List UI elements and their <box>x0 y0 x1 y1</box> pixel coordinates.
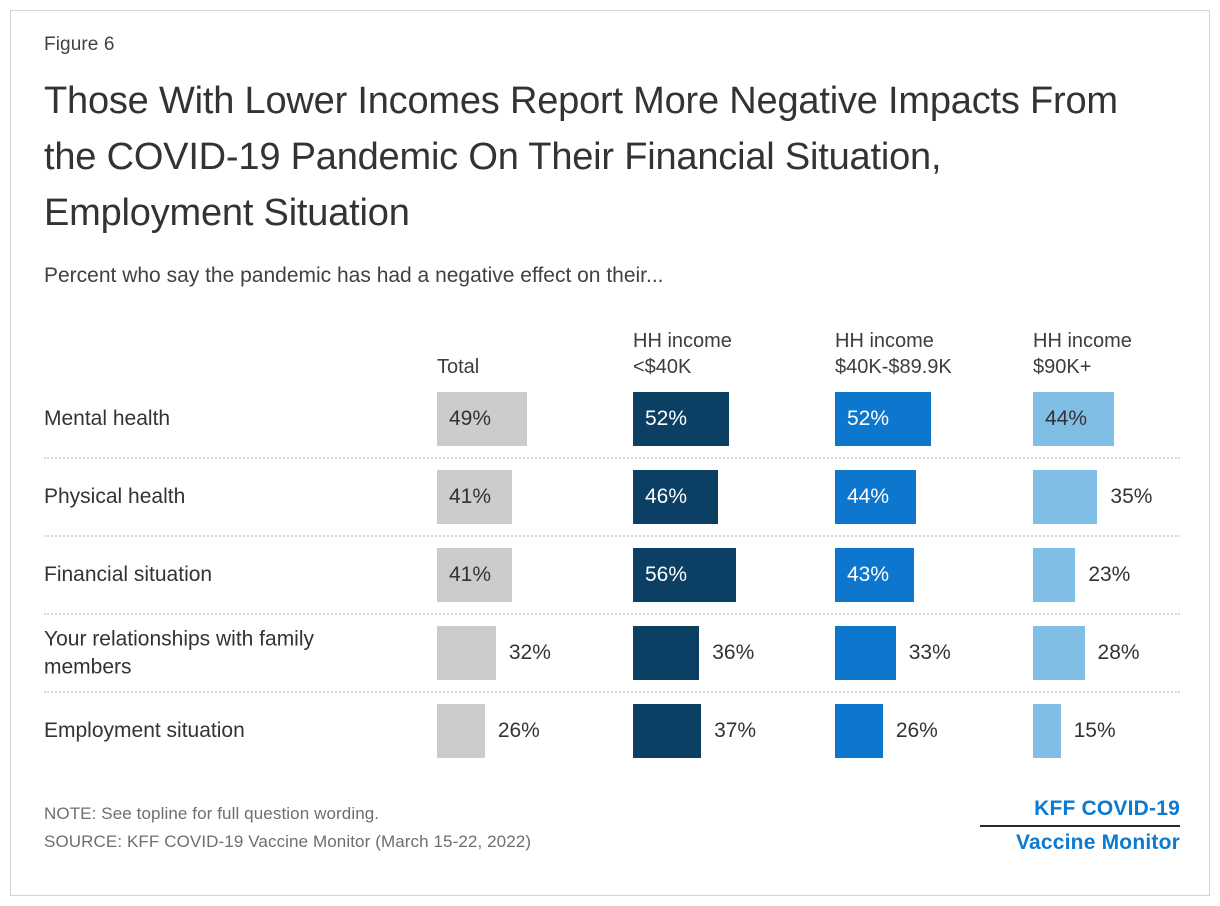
table-row: Mental health49%52%52%44% <box>44 381 1180 459</box>
bar-cell-total: 32% <box>437 626 551 680</box>
bar-cell-low: 37% <box>633 704 756 758</box>
row-label: Your relationships with family members <box>44 625 384 680</box>
bar-cell-mid: 52% <box>835 392 931 446</box>
figure-number: Figure 6 <box>44 34 1180 57</box>
page-title: Those With Lower Incomes Report More Neg… <box>44 73 1134 242</box>
bar-value-label: 44% <box>835 486 889 507</box>
bar-value-label: 49% <box>437 408 491 429</box>
bar: 56% <box>633 548 736 602</box>
kff-logo-line-1: KFF COVID-19 <box>980 796 1180 822</box>
chart-plot-area: TotalHH income <$40KHH income $40K-$89.9… <box>44 317 1180 769</box>
bar <box>437 704 485 758</box>
bar-value-label: 26% <box>485 720 540 741</box>
bar-value-label: 41% <box>437 564 491 585</box>
column-header-high: HH income $90K+ <box>1033 328 1132 381</box>
bar-cell-high: 23% <box>1033 548 1130 602</box>
bar: 43% <box>835 548 914 602</box>
kff-logo-rule <box>980 825 1180 827</box>
bar <box>835 704 883 758</box>
row-label: Financial situation <box>44 561 384 589</box>
bar: 52% <box>835 392 931 446</box>
bar <box>1033 548 1075 602</box>
kff-logo-line-2: Vaccine Monitor <box>980 830 1180 856</box>
bar-cell-total: 26% <box>437 704 540 758</box>
bar-cell-low: 46% <box>633 470 718 524</box>
bar-value-label: 43% <box>835 564 889 585</box>
chart-rows: Mental health49%52%52%44%Physical health… <box>44 381 1180 769</box>
bar-value-label: 23% <box>1075 564 1130 585</box>
figure-card: Figure 6 Those With Lower Incomes Report… <box>0 0 1220 906</box>
bar <box>1033 470 1097 524</box>
figure-footer: NOTE: See topline for full question word… <box>44 800 1180 855</box>
row-label: Physical health <box>44 483 384 511</box>
table-row: Physical health41%46%44%35% <box>44 459 1180 537</box>
bar-cell-low: 36% <box>633 626 754 680</box>
bar-cell-total: 41% <box>437 548 512 602</box>
bar-value-label: 33% <box>896 642 951 663</box>
bar-value-label: 35% <box>1097 486 1152 507</box>
bar-cell-high: 28% <box>1033 626 1140 680</box>
column-header-mid: HH income $40K-$89.9K <box>835 328 952 381</box>
bar-value-label: 28% <box>1085 642 1140 663</box>
bar-value-label: 15% <box>1061 720 1116 741</box>
bar: 46% <box>633 470 718 524</box>
bar-cell-high: 44% <box>1033 392 1114 446</box>
table-row: Financial situation41%56%43%23% <box>44 537 1180 615</box>
bar: 52% <box>633 392 729 446</box>
bar: 44% <box>835 470 916 524</box>
bar-value-label: 52% <box>633 408 687 429</box>
bar-value-label: 32% <box>496 642 551 663</box>
bar <box>835 626 896 680</box>
bar-cell-low: 56% <box>633 548 736 602</box>
column-header-row: TotalHH income <$40KHH income $40K-$89.9… <box>44 317 1180 381</box>
bar: 41% <box>437 548 512 602</box>
bar <box>633 626 699 680</box>
bar <box>1033 704 1061 758</box>
bar-cell-mid: 43% <box>835 548 914 602</box>
bar-cell-mid: 26% <box>835 704 938 758</box>
bar-value-label: 44% <box>1033 408 1087 429</box>
row-label: Employment situation <box>44 717 384 745</box>
bar-cell-low: 52% <box>633 392 729 446</box>
column-header-low: HH income <$40K <box>633 328 732 381</box>
bar-value-label: 41% <box>437 486 491 507</box>
bar <box>1033 626 1085 680</box>
row-label: Mental health <box>44 405 384 433</box>
bar-value-label: 52% <box>835 408 889 429</box>
chart-subtitle: Percent who say the pandemic has had a n… <box>44 262 1180 289</box>
bar-cell-mid: 44% <box>835 470 916 524</box>
bar: 41% <box>437 470 512 524</box>
bar-value-label: 37% <box>701 720 756 741</box>
bar: 49% <box>437 392 527 446</box>
table-row: Your relationships with family members32… <box>44 615 1180 693</box>
column-header-total: Total <box>437 354 479 380</box>
bar-cell-high: 35% <box>1033 470 1152 524</box>
bar-value-label: 26% <box>883 720 938 741</box>
bar-cell-total: 49% <box>437 392 527 446</box>
bar-value-label: 46% <box>633 486 687 507</box>
bar-cell-mid: 33% <box>835 626 951 680</box>
bar <box>437 626 496 680</box>
table-row: Employment situation26%37%26%15% <box>44 693 1180 769</box>
bar-cell-total: 41% <box>437 470 512 524</box>
kff-logo: KFF COVID-19 Vaccine Monitor <box>980 796 1180 857</box>
bar: 44% <box>1033 392 1114 446</box>
bar-cell-high: 15% <box>1033 704 1116 758</box>
bar-value-label: 56% <box>633 564 687 585</box>
bar-value-label: 36% <box>699 642 754 663</box>
figure-content: Figure 6 Those With Lower Incomes Report… <box>44 34 1180 769</box>
bar <box>633 704 701 758</box>
